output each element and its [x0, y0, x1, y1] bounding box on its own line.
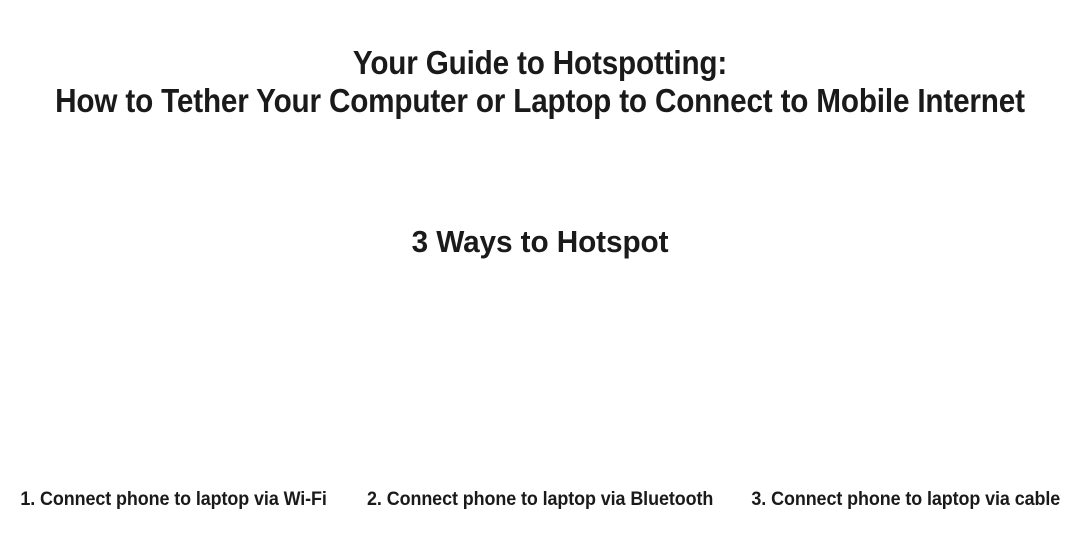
step-caption-cell-1: 1. Connect phone to laptop via Wi-Fi	[0, 487, 348, 511]
step-illustrations	[0, 285, 1080, 480]
step-illustration-3	[720, 285, 1080, 480]
step-captions: 1. Connect phone to laptop via Wi-Fi 2. …	[0, 487, 1080, 511]
section-heading: 3 Ways to Hotspot	[22, 222, 1059, 262]
step-caption-2: 2. Connect phone to laptop via Bluetooth	[367, 487, 713, 511]
step-caption-cell-3: 3. Connect phone to laptop via cable	[732, 487, 1080, 511]
step-caption-cell-2: 2. Connect phone to laptop via Bluetooth	[348, 487, 732, 511]
page-title-line-2: How to Tether Your Computer or Laptop to…	[54, 82, 1026, 120]
step-caption-1: 1. Connect phone to laptop via Wi-Fi	[21, 487, 327, 511]
step-illustration-1	[0, 285, 360, 480]
step-caption-3: 3. Connect phone to laptop via cable	[752, 487, 1061, 511]
infographic-page: Your Guide to Hotspotting: How to Tether…	[0, 0, 1080, 552]
page-title-line-1: Your Guide to Hotspotting:	[54, 44, 1026, 82]
page-title: Your Guide to Hotspotting: How to Tether…	[0, 44, 1080, 120]
step-illustration-2	[360, 285, 720, 480]
